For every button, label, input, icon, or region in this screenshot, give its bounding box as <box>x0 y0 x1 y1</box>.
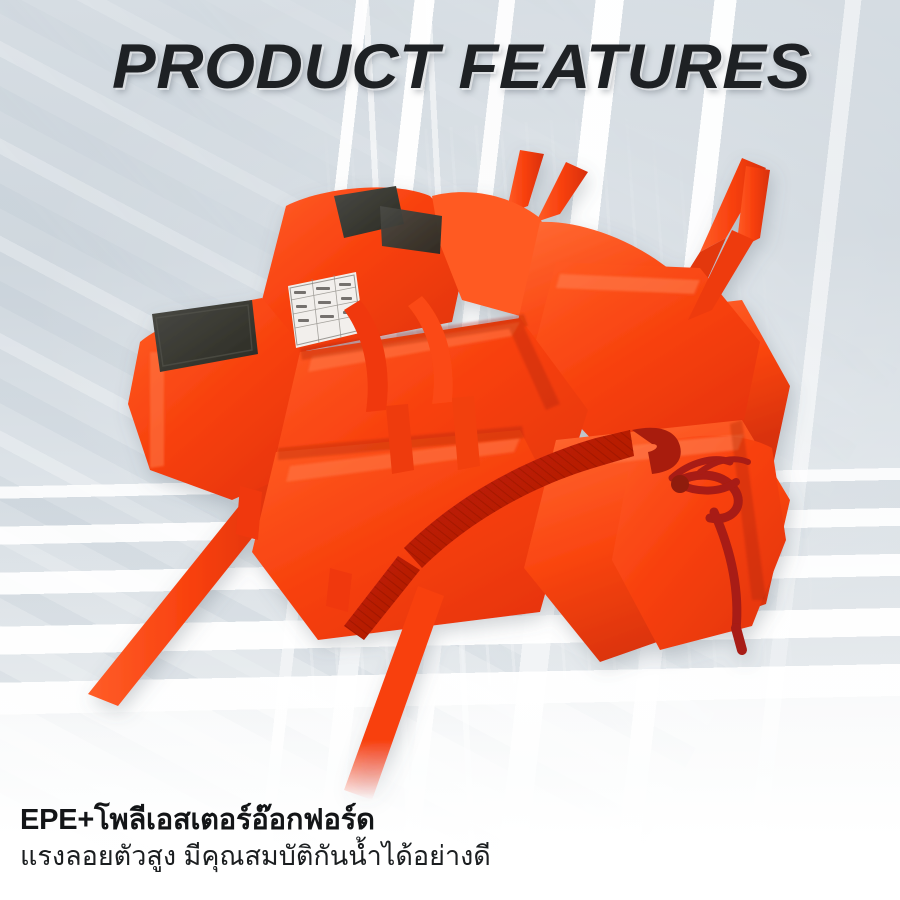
shoulder-strap-top-b <box>536 162 588 222</box>
product-feature-banner: PRODUCT FEATURES <box>0 0 900 900</box>
life-jacket-illustration <box>0 0 900 900</box>
tie-cord-knot <box>671 475 689 493</box>
strap-loop-bottom <box>326 568 352 612</box>
caption-block: EPE+โพลีเอสเตอร์อ๊อกฟอร์ด แรงลอยตัวสูง ม… <box>20 804 660 872</box>
caption-main-text: EPE+โพลีเอสเตอร์อ๊อกฟอร์ด <box>20 804 660 836</box>
product-image <box>0 0 900 900</box>
caption-sub-text: แรงลอยตัวสูง มีคุณสมบัติกันน้ำได้อย่างดี <box>20 841 660 872</box>
strap-loop-left <box>236 486 262 540</box>
